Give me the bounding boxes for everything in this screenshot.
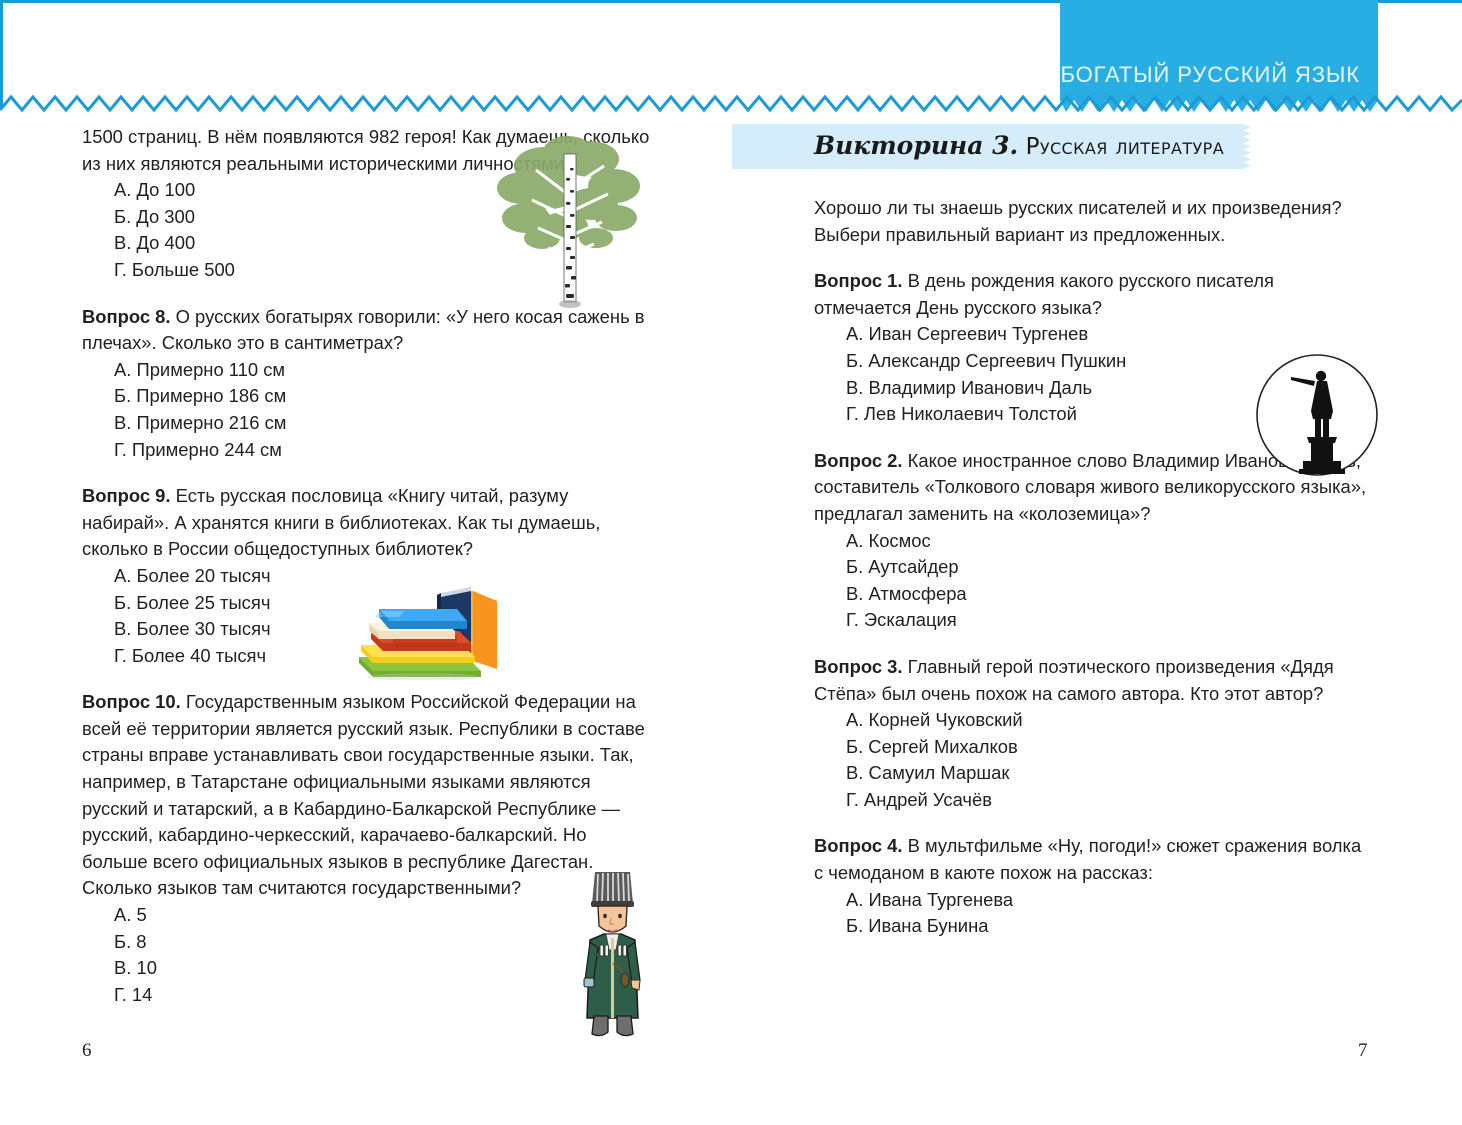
option-item[interactable]: А. Примерно 110 см [114,357,652,384]
question-3-label: Вопрос 3. [814,656,903,677]
section-banner-sawtooth-edge [1241,124,1251,169]
question-2-options: А. Космос Б. Аутсайдер В. Атмосфера Г. Э… [814,528,1374,634]
zigzag-divider-rule [0,92,1462,114]
option-item[interactable]: В. Самуил Маршак [846,760,1374,787]
question-4-text: Вопрос 4. В мультфильме «Ну, погоди!» сю… [814,833,1374,886]
header-flag-title: БОГАТЫЙ РУССКИЙ ЯЗЫК [1060,0,1360,100]
question-10-body: Государственным языком Российской Федера… [82,691,645,898]
option-item[interactable]: А. Корней Чуковский [846,707,1374,734]
question-4-label: Вопрос 4. [814,835,903,856]
right-intro-paragraph: Хорошо ли ты знаешь русских писателей и … [814,195,1374,248]
pushkin-monument-illustration [1255,353,1379,477]
option-item[interactable]: Г. Примерно 244 см [114,437,652,464]
option-item[interactable]: Г. Андрей Усачёв [846,787,1374,814]
question-block-4: Вопрос 4. В мультфильме «Ну, погоди!» сю… [814,833,1374,939]
question-3-text: Вопрос 3. Главный герой поэтического про… [814,654,1374,707]
section-banner-script-part: Викторина 3. [814,131,1018,160]
option-item[interactable]: Б. Сергей Михалков [846,734,1374,761]
right-page-column: Викторина 3. Русская литература Хорошо л… [814,124,1374,940]
question-9-label: Вопрос 9. [82,485,171,506]
question-10-label: Вопрос 10. [82,691,181,712]
option-item[interactable]: А. Космос [846,528,1374,555]
question-block-10: Вопрос 10. Государственным языком Россий… [82,689,652,1008]
option-item[interactable]: Б. Примерно 186 см [114,383,652,410]
section-banner-title: Викторина 3. Русская литература [814,133,1224,161]
question-1-text: Вопрос 1. В день рождения какого русског… [814,268,1374,321]
dagestani-man-illustration [570,868,655,1043]
question-3-options: А. Корней Чуковский Б. Сергей Михалков В… [814,707,1374,813]
question-8-options: А. Примерно 110 см Б. Примерно 186 см В.… [82,357,652,463]
question-4-options: А. Ивана Тургенева Б. Ивана Бунина [814,887,1374,940]
question-2-label: Вопрос 2. [814,450,903,471]
option-item[interactable]: Г. Эскалация [846,607,1374,634]
section-banner-caps-part: Русская литература [1026,134,1225,160]
section-banner: Викторина 3. Русская литература [732,124,1242,169]
option-item[interactable]: Б. Ивана Бунина [846,913,1374,940]
question-10-text: Вопрос 10. Государственным языком Россий… [82,689,652,902]
option-item[interactable]: А. Иван Сергеевич Тургенев [846,321,1374,348]
birch-tree-illustration [492,126,648,312]
option-item[interactable]: Б. Аутсайдер [846,554,1374,581]
question-9-text: Вопрос 9. Есть русская пословица «Книгу … [82,483,652,563]
option-item[interactable]: В. Примерно 216 см [114,410,652,437]
option-item[interactable]: В. Атмосфера [846,581,1374,608]
question-block-8: Вопрос 8. О русских богатырях говорили: … [82,304,652,464]
page-number-right: 7 [1358,1040,1368,1062]
book-stack-illustration [345,585,515,680]
option-item[interactable]: А. Ивана Тургенева [846,887,1374,914]
question-10-options: А. 5 Б. 8 В. 10 Г. 14 [82,902,652,1008]
page-number-left: 6 [82,1040,92,1062]
question-1-label: Вопрос 1. [814,270,903,291]
question-block-3: Вопрос 3. Главный герой поэтического про… [814,654,1374,814]
question-8-label: Вопрос 8. [82,306,171,327]
